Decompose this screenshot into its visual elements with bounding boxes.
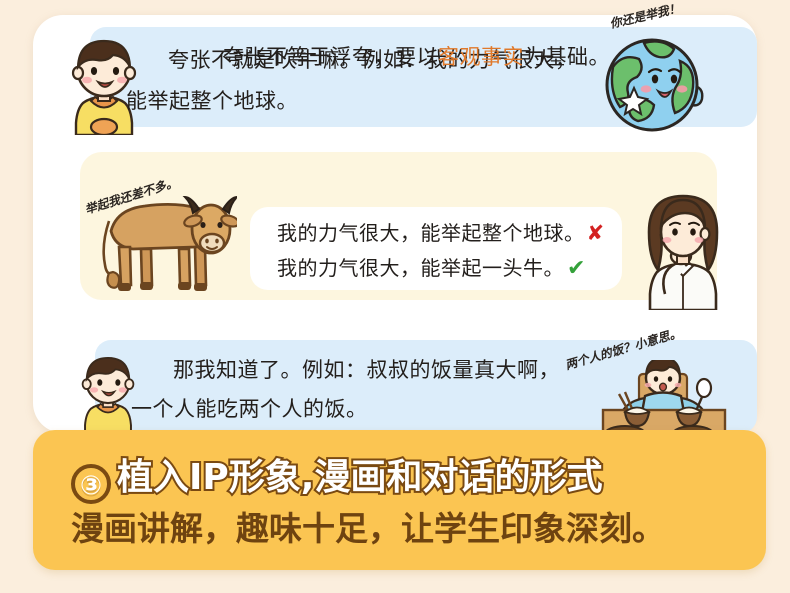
panel3-line-2: 一个人能吃两个人的饭。 (131, 393, 368, 423)
banner-subtitle: 漫画讲解，趣味十足，让学生印象深刻。 (71, 502, 665, 550)
banner-title: 植入IP形象,漫画和对话的形式 (117, 457, 602, 498)
earth-globe-icon (600, 27, 710, 135)
panel2-heading-part-3: 为基础。 (524, 45, 610, 69)
panel2-example-sentence-2: 我的力气很大，能举起一头牛。 (277, 256, 564, 280)
page-root: 夸张不就是吹牛嘛。例如：我的力气很大， 能举起整个地球。 你还是举我！ (0, 0, 790, 593)
panel2-heading-part-1: 夸张不等于浮夸，要以 (223, 45, 438, 69)
correct-mark-icon: ✔ (567, 256, 585, 281)
panel1-line-2: 能举起整个地球。 (126, 85, 298, 115)
panel2-example-sentence-1: 我的力气很大，能举起整个地球。 (277, 221, 585, 245)
panel2-example-row-2: 我的力气很大，能举起一头牛。✔ (277, 252, 585, 281)
woman-thinking-figure (637, 190, 729, 310)
content-card: 夸张不就是吹牛嘛。例如：我的力气很大， 能举起整个地球。 你还是举我！ (33, 15, 757, 433)
panel2-heading: 夸张不等于浮夸，要以客观事实为基础。 (223, 41, 610, 71)
banner-number-badge: ③ (71, 464, 111, 504)
banner-title-line: ③植入IP形象,漫画和对话的形式 (71, 448, 602, 504)
boy-eating-at-table-figure (573, 360, 753, 435)
panel3-line-1: 那我知道了。例如：叔叔的饭量真大啊， (173, 354, 560, 384)
panel2-heading-highlight: 客观事实 (438, 45, 524, 69)
panel2-example-row-1: 我的力气很大，能举起整个地球。✘ (277, 217, 604, 246)
incorrect-mark-icon: ✘ (587, 221, 605, 245)
promo-banner: ③植入IP形象,漫画和对话的形式 漫画讲解，趣味十足，让学生印象深刻。 (33, 430, 766, 570)
